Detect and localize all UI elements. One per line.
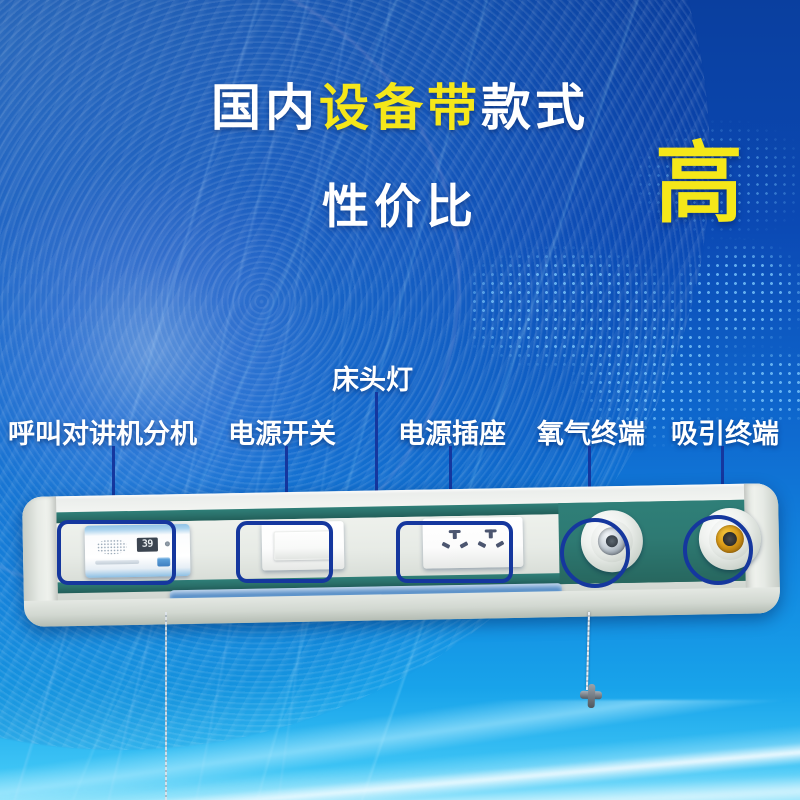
pull-cord-weight[interactable] (580, 684, 603, 709)
intercom-slot (95, 560, 139, 565)
switch-rocker[interactable] (274, 530, 333, 560)
speaker-grille-icon (97, 539, 127, 555)
pull-cord[interactable] (586, 612, 590, 690)
headline-part-1: 国内 (211, 80, 319, 136)
oxygen-hose-cord (165, 612, 167, 800)
callout-label-socket: 电源插座 (398, 412, 506, 451)
intercom-display: 39 (137, 538, 158, 552)
headline-part-3: 款式 (481, 80, 589, 136)
headline-part-2: 设备带 (319, 80, 481, 136)
power-switch[interactable] (262, 521, 345, 570)
headline: 国内设备带款式 (0, 82, 800, 135)
power-socket-outlet[interactable] (422, 517, 523, 569)
bottom-light-beam-soft (0, 745, 800, 800)
status-led-icon (165, 541, 170, 546)
socket-outlet-left[interactable] (440, 530, 470, 557)
callout-label-bedlamp: 床头灯 (332, 358, 413, 397)
panel-body: 39 (22, 483, 780, 627)
callout-label-intercom: 呼叫对讲机分机 (8, 412, 197, 451)
call-button[interactable] (157, 557, 170, 566)
bottom-light-beam (0, 700, 800, 800)
callout-label-oxygen: 氧气终端 (537, 412, 645, 451)
bedhead-unit-panel: 39 (22, 483, 780, 627)
emphasis-character: 高 (655, 140, 743, 228)
panel-bottom-rail (24, 587, 780, 627)
nurse-call-intercom-unit[interactable]: 39 (85, 524, 191, 578)
callout-label-switch: 电源开关 (228, 412, 336, 451)
socket-outlet-right[interactable] (476, 529, 506, 556)
callout-label-suction: 吸引终端 (671, 412, 779, 451)
product-banner: 国内设备带款式 性价比 高 呼叫对讲机分机 电源开关 床头灯 电源插座 氧气终端… (0, 0, 800, 800)
